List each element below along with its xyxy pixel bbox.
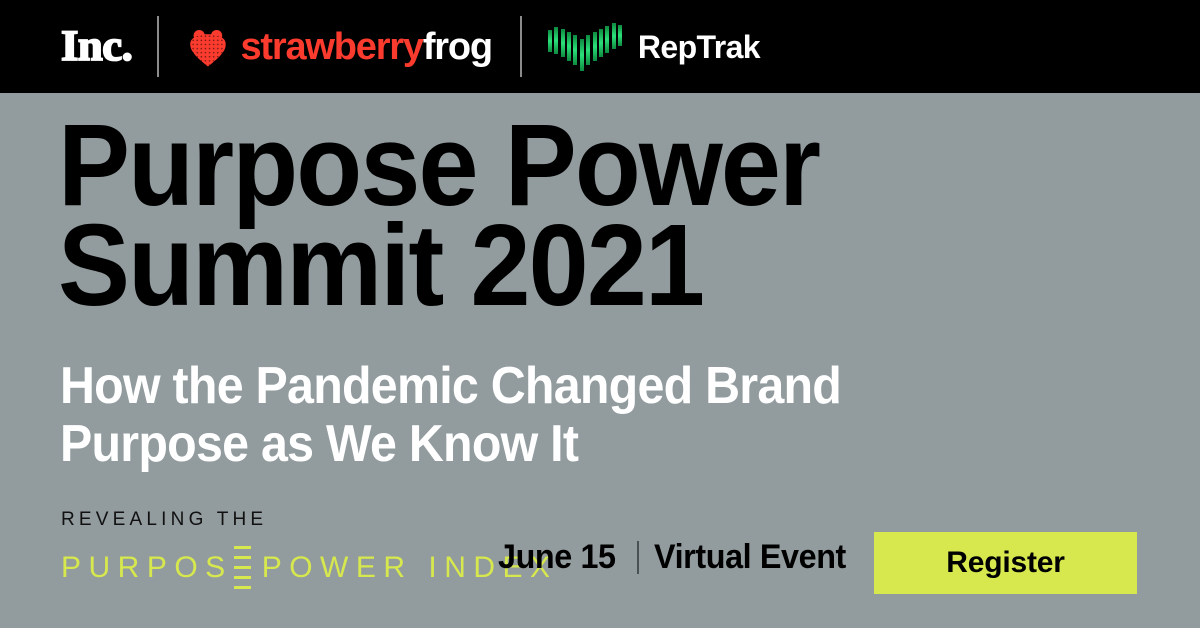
inc-logo[interactable]: Inc. <box>61 25 132 68</box>
strawberryfrog-wordmark: strawberryfrog <box>240 28 491 66</box>
strawberry-frog-icon <box>187 26 229 68</box>
event-divider <box>637 541 639 574</box>
page-subtitle: How the Pandemic Changed Brand Purpose a… <box>60 357 971 473</box>
promo-banner: Inc. strawberryfrog <box>0 0 1200 628</box>
event-details: June 15 Virtual Event <box>498 540 856 574</box>
event-type: Virtual Event <box>654 540 846 574</box>
purpose-power-index-lockup: REVEALING THE PURPOS POWER INDEX <box>61 510 558 592</box>
logo-divider-1 <box>157 16 159 77</box>
sponsor-logo-bar: Inc. strawberryfrog <box>0 0 1200 93</box>
strawberryfrog-word-frog: frog <box>423 26 492 68</box>
index-word-purpos: PURPOS <box>61 553 233 583</box>
index-kicker: REVEALING THE <box>61 510 558 529</box>
page-title: Purpose Power Summit 2021 <box>58 116 988 316</box>
event-date: June 15 <box>498 540 616 574</box>
reptrak-logo[interactable]: RepTrak <box>548 23 760 71</box>
reptrak-waveform-icon <box>548 23 622 71</box>
register-button[interactable]: Register <box>874 532 1137 594</box>
logo-divider-2 <box>520 16 522 77</box>
strawberryfrog-word-strawberry: strawberry <box>240 26 422 68</box>
equalizer-e-icon <box>234 544 251 592</box>
strawberryfrog-logo[interactable]: strawberryfrog <box>187 26 491 68</box>
reptrak-wordmark: RepTrak <box>638 31 760 63</box>
index-wordmark: PURPOS POWER INDEX <box>61 544 558 592</box>
